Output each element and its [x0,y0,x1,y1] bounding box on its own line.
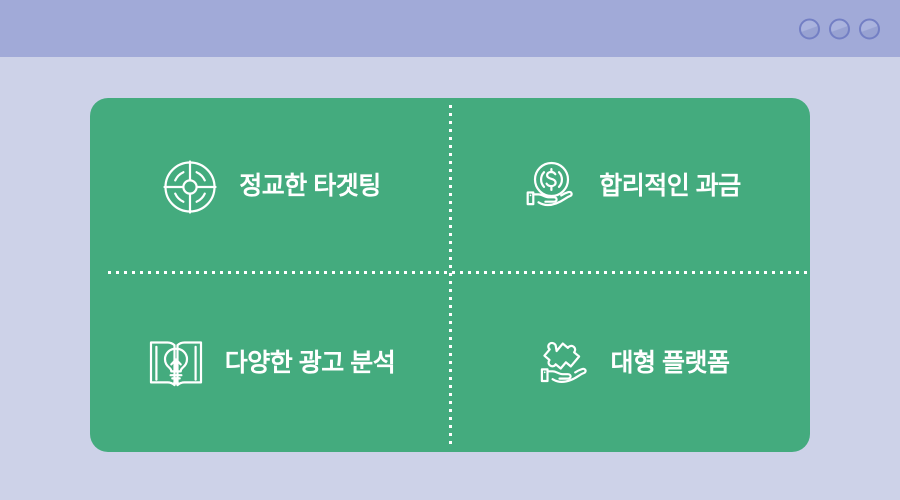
window-titlebar [0,0,900,57]
hand-holding-puzzle-icon [531,333,593,395]
feature-item-large-platform[interactable]: 대형 플랫폼 [450,275,810,452]
feature-label-diverse-ad-analysis: 다양한 광고 분석 [225,351,395,376]
book-lightbulb-icon [145,333,207,395]
window-controls [799,18,880,39]
maximize-button-icon[interactable] [829,18,850,39]
screen-root: 정교한 타겟팅 [0,0,900,500]
feature-label-precise-targeting: 정교한 타겟팅 [239,174,380,199]
feature-label-large-platform: 대형 플랫폼 [611,351,730,376]
hand-holding-coin-icon [519,156,581,218]
target-crosshair-icon [159,156,221,218]
close-button-icon[interactable] [859,18,880,39]
feature-label-reasonable-billing: 합리적인 과금 [599,174,740,199]
feature-item-reasonable-billing[interactable]: 합리적인 과금 [450,98,810,275]
minimize-button-icon[interactable] [799,18,820,39]
feature-item-diverse-ad-analysis[interactable]: 다양한 광고 분석 [90,275,450,452]
feature-card: 정교한 타겟팅 [90,98,810,452]
feature-item-precise-targeting[interactable]: 정교한 타겟팅 [90,98,450,275]
